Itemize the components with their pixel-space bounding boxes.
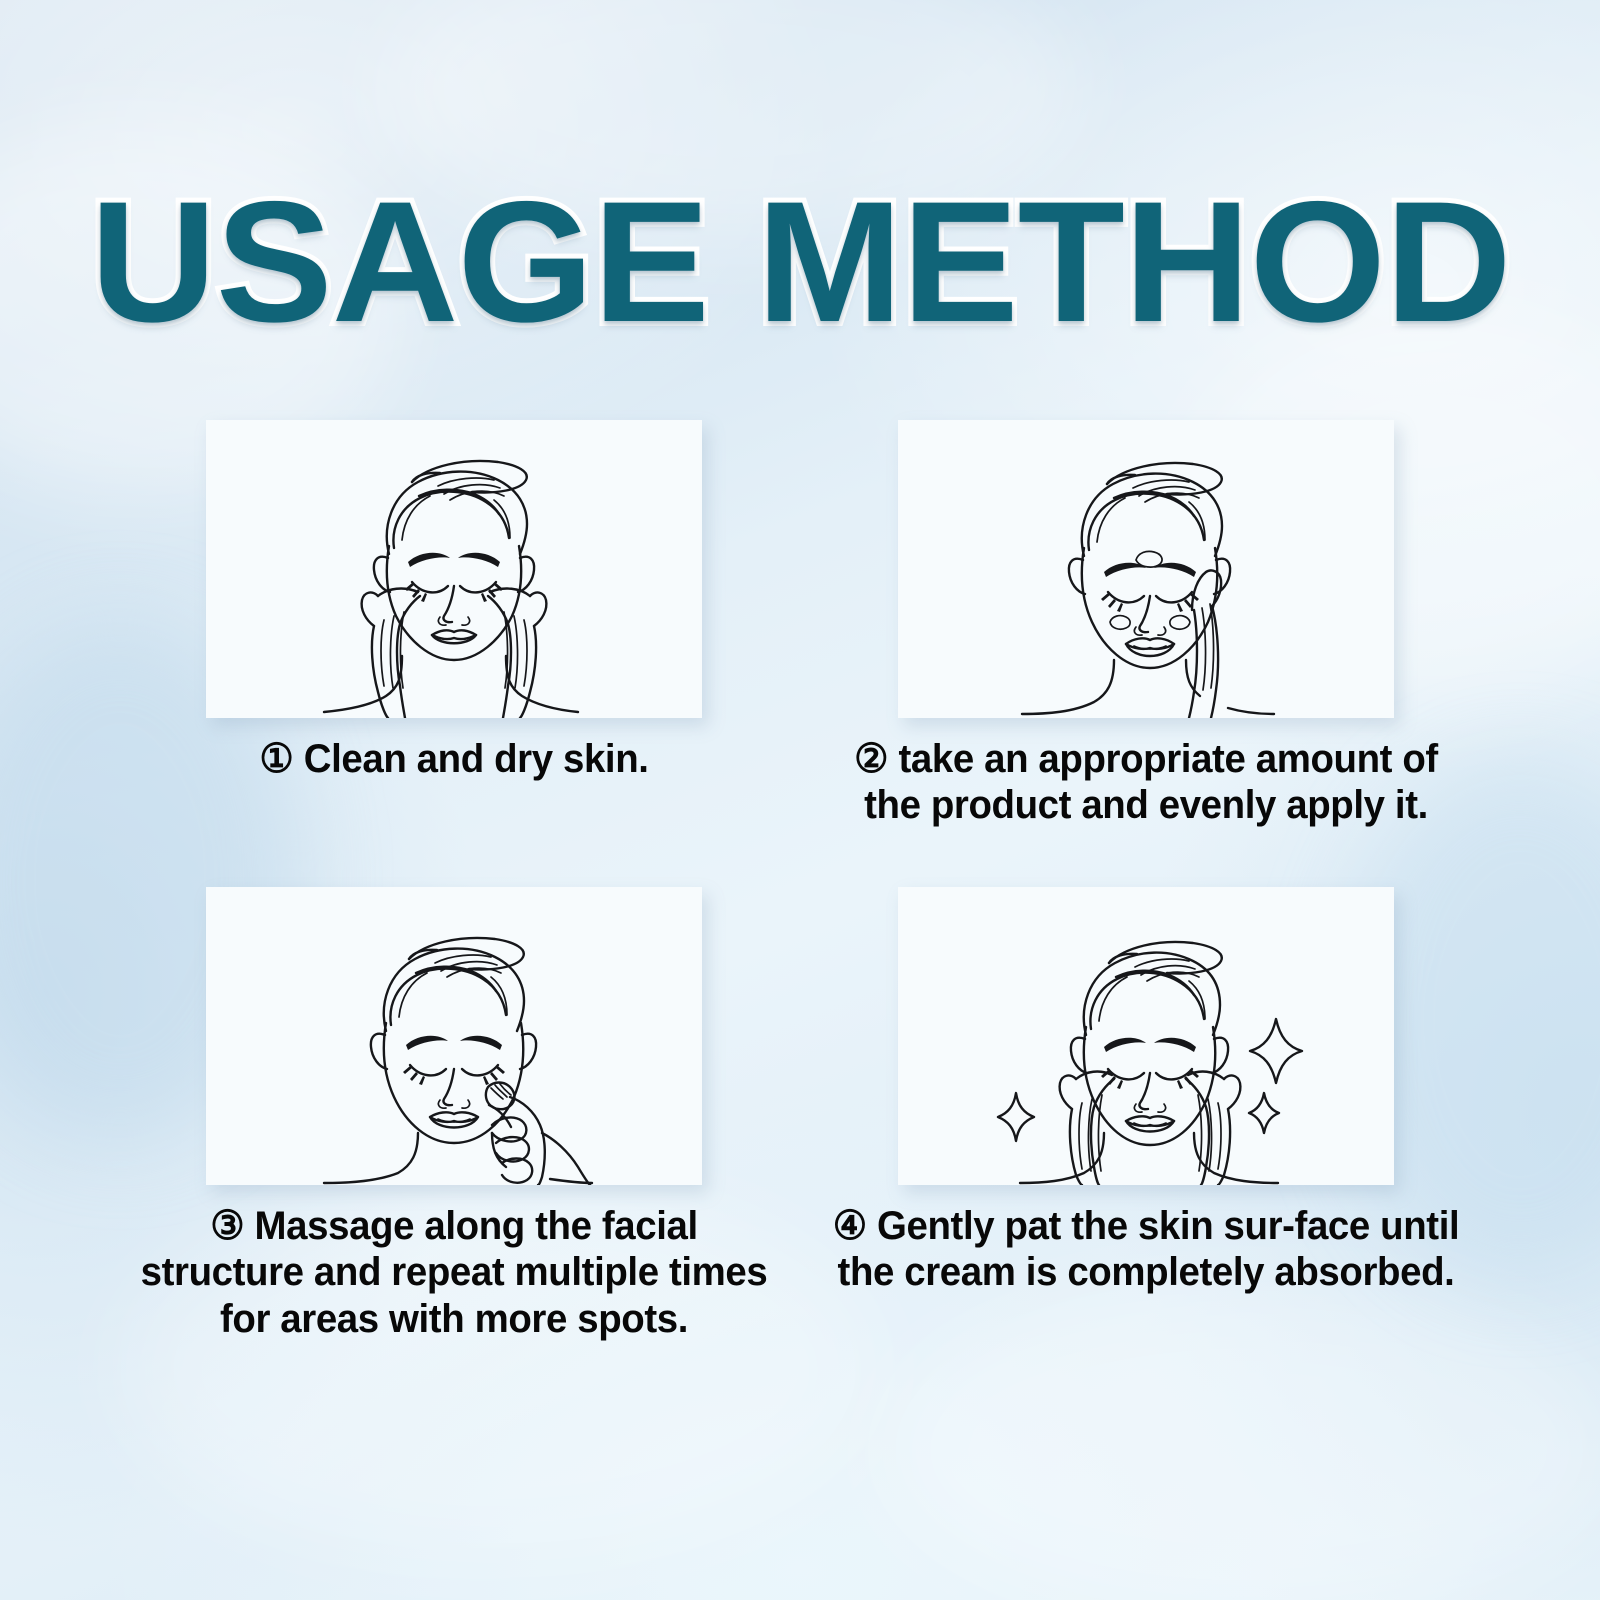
step-1-caption: ① Clean and dry skin.: [166, 736, 742, 782]
step-3-image-card: [206, 887, 702, 1185]
illustration-massage-facial-structure: [206, 887, 702, 1185]
step-3: ③ Massage along the facial structure and…: [206, 887, 702, 1342]
step-1-image-card: [206, 420, 702, 718]
step-2-caption: ② take an appropriate amount of the prod…: [829, 736, 1463, 829]
illustration-pat-until-absorbed: [898, 887, 1394, 1185]
usage-method-poster: USAGE METHOD: [0, 0, 1600, 1600]
step-2: ② take an appropriate amount of the prod…: [898, 420, 1394, 829]
page-title: USAGE METHOD: [90, 176, 1511, 348]
illustration-clean-and-dry-skin: [206, 420, 702, 718]
step-4: ④ Gently pat the skin sur-face until the…: [898, 887, 1394, 1342]
step-3-caption: ③ Massage along the facial structure and…: [137, 1203, 771, 1342]
steps-row-top: ① Clean and dry skin.: [0, 420, 1600, 829]
steps-row-bottom: ③ Massage along the facial structure and…: [0, 887, 1600, 1342]
step-2-image-card: [898, 420, 1394, 718]
step-4-caption: ④ Gently pat the skin sur-face until the…: [829, 1203, 1463, 1296]
illustration-apply-product-evenly: [898, 420, 1394, 718]
steps-grid: ① Clean and dry skin.: [0, 420, 1600, 1342]
page-title-container: USAGE METHOD: [0, 176, 1600, 348]
step-1: ① Clean and dry skin.: [206, 420, 702, 829]
step-4-image-card: [898, 887, 1394, 1185]
